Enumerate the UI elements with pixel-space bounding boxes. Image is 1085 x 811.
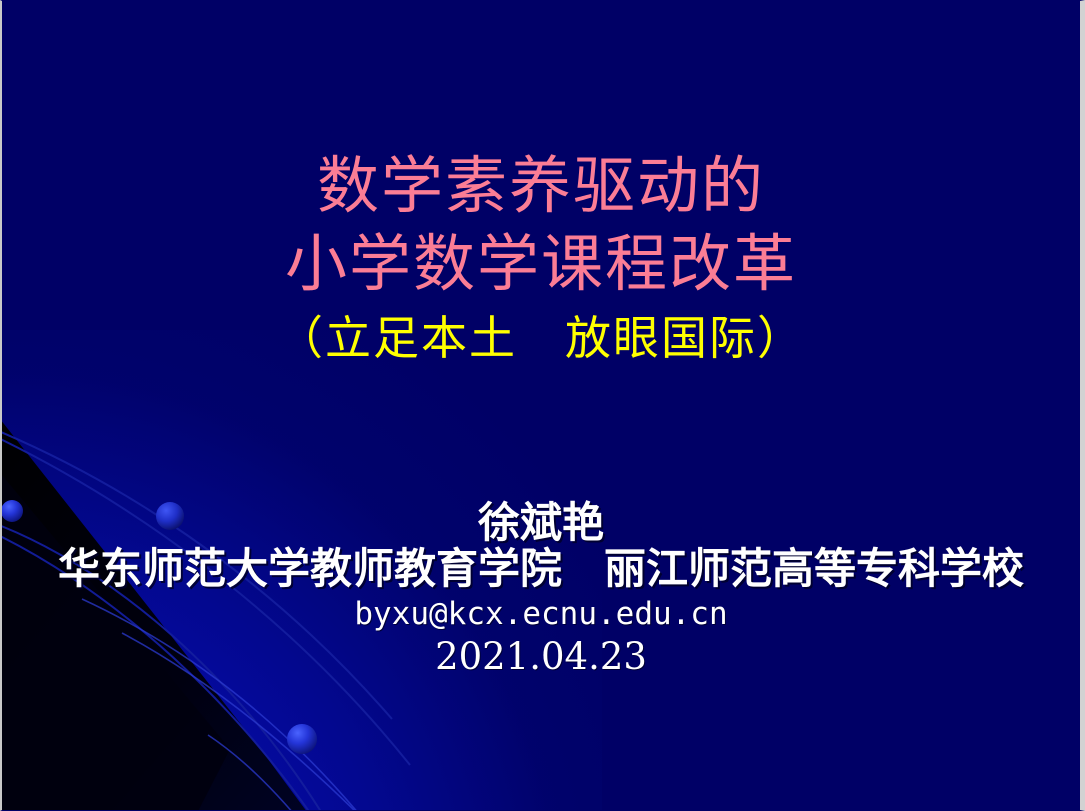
title-block: 数学素养驱动的 小学数学课程改革 （立足本土 放眼国际） [2,147,1080,369]
author-affiliation: 华东师范大学教师教育学院 丽江师范高等专科学校 [2,545,1080,593]
title-line-2: 小学数学课程改革 [2,225,1080,303]
presentation-date: 2021.04.23 [2,635,1080,679]
author-email: byxu@kcx.ecnu.edu.cn [2,593,1080,635]
slide-subtitle: （立足本土 放眼国际） [2,307,1080,369]
author-block: 徐斌艳 华东师范大学教师教育学院 丽江师范高等专科学校 byxu@kcx.ecn… [2,501,1080,679]
slide-content: 数学素养驱动的 小学数学课程改革 （立足本土 放眼国际） 徐斌艳 华东师范大学教… [2,1,1080,810]
presentation-slide: 数学素养驱动的 小学数学课程改革 （立足本土 放眼国际） 徐斌艳 华东师范大学教… [0,0,1085,811]
title-line-1: 数学素养驱动的 [2,147,1080,225]
author-name: 徐斌艳 [2,501,1080,545]
